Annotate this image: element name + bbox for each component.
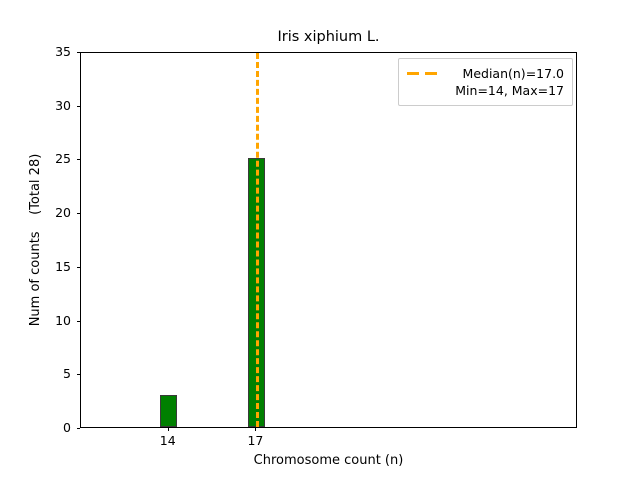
x-tick-mark [168, 428, 169, 432]
y-tick-mark [77, 374, 81, 375]
y-axis-label: Num of counts (Total 28) [27, 52, 45, 428]
chart-figure: Iris xiphium L. 05101520253035 1417 Chro… [0, 0, 640, 480]
x-tick-label: 14 [160, 433, 176, 448]
x-axis-label: Chromosome count (n) [80, 453, 577, 469]
y-tick-mark [77, 321, 81, 322]
y-tick-label: 25 [55, 152, 71, 166]
chart-title: Iris xiphium L. [80, 28, 577, 46]
y-tick-label: 35 [55, 45, 71, 59]
y-tick-mark [77, 52, 81, 53]
y-tick-mark [77, 267, 81, 268]
median-line [256, 53, 259, 427]
legend-entry-minmax: Min=14, Max=17 [448, 82, 564, 99]
legend-dashed-line-icon [407, 65, 441, 82]
plot-area [80, 52, 577, 428]
x-tick-mark [255, 428, 256, 432]
y-tick-label: 5 [63, 367, 71, 381]
y-tick-mark [77, 106, 81, 107]
y-tick-mark [77, 159, 81, 160]
y-tick-mark [77, 428, 81, 429]
y-tick-label: 0 [63, 421, 71, 435]
legend-entry-median: Median(n)=17.0 [448, 65, 564, 82]
y-tick-mark [77, 213, 81, 214]
legend-text: Median(n)=17.0 Min=14, Max=17 [448, 65, 564, 99]
x-tick-label: 17 [247, 433, 263, 448]
plot-inner [81, 53, 576, 427]
y-tick-label: 15 [55, 260, 71, 274]
legend: Median(n)=17.0 Min=14, Max=17 [398, 58, 573, 106]
y-tick-label: 30 [55, 99, 71, 113]
y-tick-label: 20 [55, 206, 71, 220]
bar-14[interactable] [160, 395, 177, 427]
y-tick-label: 10 [55, 314, 71, 328]
